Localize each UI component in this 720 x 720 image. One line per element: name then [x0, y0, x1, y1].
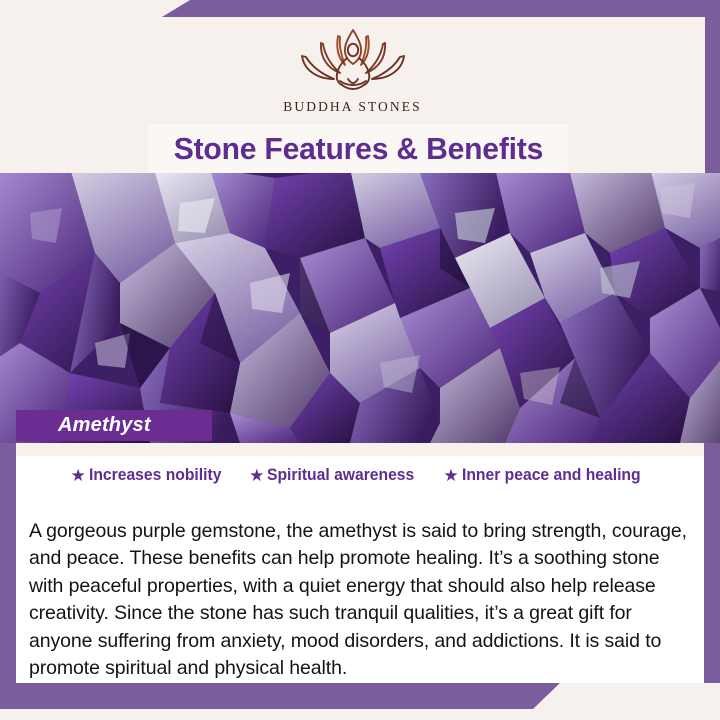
benefits-row: ★ Increases nobility ★ Spiritual awarene… [16, 466, 704, 485]
bottom-accent-band [0, 683, 720, 709]
star-icon: ★ [70, 467, 85, 484]
header-right-rail [705, 17, 720, 173]
amethyst-crystal-cluster-photo [0, 173, 720, 443]
stone-description: A gorgeous purple gemstone, the amethyst… [29, 518, 691, 683]
stone-name-bar: Amethyst [16, 410, 212, 441]
benefit-item: ★ Increases nobility [70, 466, 228, 485]
page-title: Stone Features & Benefits [173, 131, 542, 167]
star-icon: ★ [249, 467, 264, 484]
benefit-label: Spiritual awareness [267, 466, 414, 485]
stone-name: Amethyst [16, 414, 151, 437]
benefit-item: ★ Spiritual awareness [249, 466, 422, 485]
hero-image [0, 173, 720, 443]
infographic-root: BUDDHA STONES Stone Features & Benefits [0, 0, 720, 720]
right-accent-rail [704, 443, 720, 683]
brand-wordmark: BUDDHA STONES [0, 99, 705, 115]
benefit-item: ★ Inner peace and healing [443, 466, 649, 485]
left-accent-rail [0, 443, 16, 683]
top-accent-band [0, 0, 720, 17]
brand-logo: BUDDHA STONES [0, 24, 705, 115]
title-plaque: Stone Features & Benefits [148, 124, 568, 173]
content-top-strip [16, 443, 704, 456]
star-icon: ★ [443, 467, 458, 484]
benefit-label: Inner peace and healing [462, 466, 641, 485]
benefit-label: Increases nobility [89, 466, 221, 485]
lotus-meditation-icon [288, 24, 418, 96]
